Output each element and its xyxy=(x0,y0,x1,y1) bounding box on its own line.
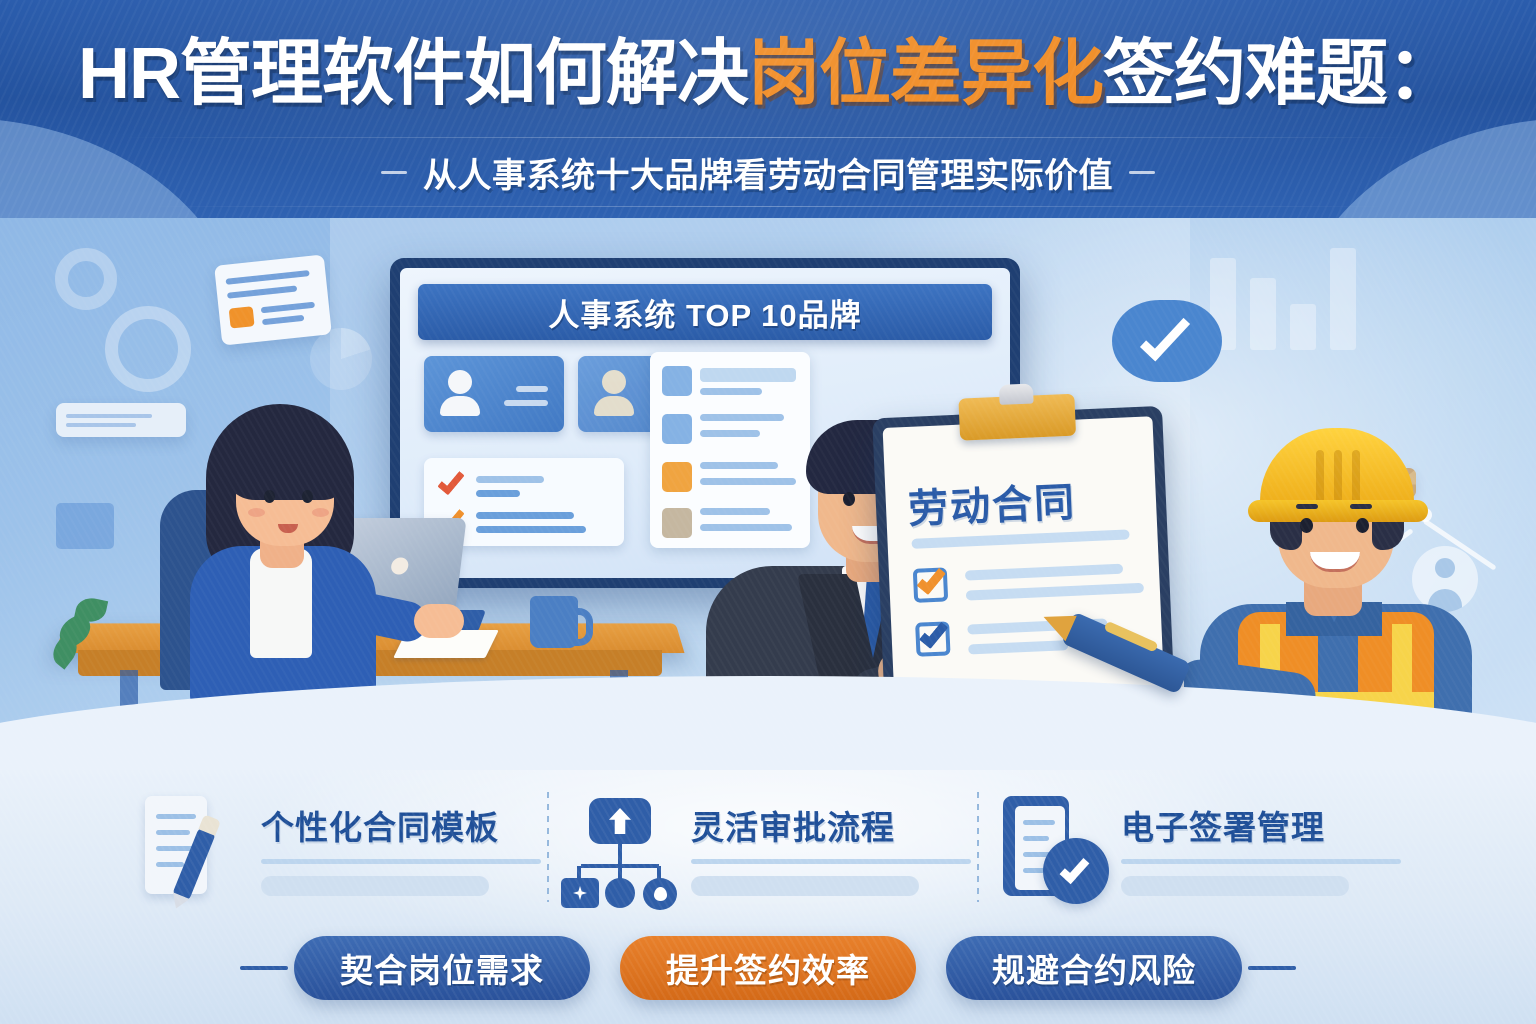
feature-label: 个性化合同模板 xyxy=(261,801,553,849)
bg-bar-chart-bar xyxy=(1210,258,1236,350)
panel-line xyxy=(700,508,770,515)
pen-clip xyxy=(1103,621,1158,653)
contract-paper: 劳动合同 xyxy=(883,416,1168,770)
records-panel xyxy=(650,352,810,548)
doc-line xyxy=(1023,820,1055,825)
monitor-banner-label: 人事系统 TOP 10品牌 xyxy=(548,290,861,335)
flow-leaf-node xyxy=(561,878,599,908)
monitor-banner: 人事系统 TOP 10品牌 xyxy=(418,284,992,340)
title-part-one: HR管理软件如何解决 xyxy=(78,34,748,114)
flow-connector xyxy=(657,866,661,880)
suit-jacket xyxy=(706,566,1036,770)
hair xyxy=(806,420,942,494)
feature-text: 灵活审批流程 xyxy=(691,801,983,896)
panel-swatch xyxy=(662,508,692,538)
header-divider-line-lower xyxy=(150,206,1386,207)
contract-clipboard: 劳动合同 xyxy=(872,406,1178,770)
header-divider-line xyxy=(120,137,1416,138)
bg-card-line xyxy=(226,270,310,285)
blush xyxy=(312,508,329,517)
bg-card-line xyxy=(227,285,297,298)
bg-trend-line xyxy=(1423,518,1497,570)
pill-connector-left xyxy=(240,966,288,970)
shirt xyxy=(250,548,312,658)
pill-label: 契合岗位需求 xyxy=(340,944,544,992)
lapel-right xyxy=(861,574,949,714)
list-line xyxy=(476,490,520,497)
bg-bar-chart-bar xyxy=(1250,278,1276,350)
check-badge-icon xyxy=(1043,838,1109,904)
avatar-head xyxy=(1435,558,1455,578)
plant-leaf xyxy=(54,612,96,651)
check-icon xyxy=(1140,310,1190,362)
neck xyxy=(260,528,304,568)
feature-placeholder-bar xyxy=(261,876,489,896)
panel-line xyxy=(700,462,778,469)
doc-line xyxy=(1023,852,1055,857)
arm xyxy=(313,583,431,645)
desk-leg xyxy=(610,670,628,750)
eye xyxy=(264,490,275,503)
panel-swatch xyxy=(662,414,692,444)
avatar-body xyxy=(440,396,480,416)
work-shirt xyxy=(1200,604,1472,770)
bottom-section: 个性化合同模板 灵活审批流程 xyxy=(0,770,1536,1024)
flow-connector xyxy=(618,844,622,866)
panel-swatch xyxy=(662,366,692,396)
panel-line xyxy=(700,430,760,437)
panel-line xyxy=(700,524,792,531)
construction-worker-character xyxy=(1186,414,1486,770)
contract-checkbox xyxy=(913,567,948,602)
bottom-glow xyxy=(218,770,1318,970)
bg-card-line xyxy=(262,315,304,325)
profile-card xyxy=(424,356,564,432)
doc-line xyxy=(156,862,184,867)
benefit-pill-row: 契合岗位需求 提升签约效率 规避合约风险 xyxy=(0,928,1536,1008)
panel-line xyxy=(700,368,796,382)
blazer xyxy=(190,546,376,706)
document-shape xyxy=(145,796,207,894)
document-pencil-icon xyxy=(139,794,243,902)
profile-line xyxy=(676,404,702,410)
eye xyxy=(843,492,855,506)
desk-edge xyxy=(78,650,662,676)
bg-approval-bubble-icon xyxy=(1112,300,1222,382)
hair-left xyxy=(1270,488,1302,550)
bg-user-avatar-icon xyxy=(1378,630,1450,702)
potted-plant xyxy=(50,578,120,668)
avatar-body xyxy=(1395,676,1432,702)
bg-card-line xyxy=(261,302,315,314)
feature-item-contract-template[interactable]: 个性化合同模板 xyxy=(123,788,553,908)
necktie xyxy=(860,582,886,674)
feature-rule xyxy=(1121,859,1401,864)
eye xyxy=(1300,518,1313,533)
doc-line xyxy=(156,846,196,851)
feature-placeholder-bar xyxy=(1121,876,1349,896)
contract-line xyxy=(965,564,1123,581)
profile-line xyxy=(516,386,548,392)
scene-bottom-curve xyxy=(0,676,1536,770)
dress-shirt xyxy=(842,566,904,662)
mouth xyxy=(1310,552,1360,572)
doc-line xyxy=(156,814,196,819)
hr-officer-character xyxy=(178,398,408,698)
collar xyxy=(1286,602,1382,636)
helmet-rib xyxy=(1316,450,1324,508)
desk-paper xyxy=(393,630,499,658)
feature-text: 个性化合同模板 xyxy=(261,801,553,896)
check-icon xyxy=(437,467,464,496)
hair-back xyxy=(206,404,354,582)
desktop-monitor: 人事系统 TOP 10品牌 xyxy=(390,258,1020,588)
eye xyxy=(302,490,313,503)
pill-label: 提升签约效率 xyxy=(666,944,870,992)
doc-line xyxy=(156,830,190,835)
bg-search-bar-icon xyxy=(56,403,186,437)
bg-user-avatar-icon xyxy=(1412,546,1478,612)
hair-front xyxy=(222,414,348,500)
plant-leaf xyxy=(74,595,108,625)
subtitle-dash-left xyxy=(381,171,407,174)
feature-label: 电子签署管理 xyxy=(1121,801,1413,849)
list-line xyxy=(476,476,544,483)
icon-shadow xyxy=(135,838,191,896)
helmet-rib xyxy=(1352,450,1360,508)
flow-connector xyxy=(581,864,659,868)
hair-right xyxy=(1372,488,1404,550)
clipboard-clamp xyxy=(958,394,1076,441)
pill-risk-avoidance[interactable]: 规避合约风险 xyxy=(946,936,1242,1000)
page-subtitle: 从人事系统十大品牌看劳动合同管理实际价值 xyxy=(423,148,1113,197)
hair-quiff xyxy=(907,425,956,472)
doc-line xyxy=(1023,836,1049,841)
doc-line xyxy=(1023,868,1045,873)
flow-connector xyxy=(577,866,581,880)
title-part-two: 签约难题： xyxy=(1103,34,1458,114)
flow-root-node xyxy=(589,798,651,844)
profile-line xyxy=(504,400,548,406)
feature-placeholder-bar xyxy=(691,876,919,896)
flow-connector xyxy=(618,866,622,880)
vest-opening xyxy=(1318,612,1358,770)
gear-icon xyxy=(105,306,191,392)
profile-avatar-icon xyxy=(592,370,636,416)
lapel-left xyxy=(797,574,885,714)
bg-search-line xyxy=(66,414,152,418)
list-line xyxy=(476,526,586,533)
pencil-shape xyxy=(172,827,216,901)
feature-text: 电子签署管理 xyxy=(1121,801,1413,896)
plant-leaf xyxy=(47,632,83,669)
bg-trend-line xyxy=(1353,528,1414,574)
bg-search-line xyxy=(66,423,136,427)
suit-button xyxy=(800,750,810,760)
neck xyxy=(1304,570,1362,616)
suit-button xyxy=(800,728,810,738)
document-shape xyxy=(1003,796,1069,896)
eyebrow xyxy=(1296,504,1318,509)
bg-chart-node xyxy=(1418,508,1432,522)
flow-leaf-glyph xyxy=(654,887,667,901)
hand xyxy=(875,643,944,697)
face xyxy=(236,434,334,546)
list-line xyxy=(476,512,574,519)
bg-bar-chart-bar xyxy=(1290,304,1316,350)
pill-job-fit[interactable]: 契合岗位需求 xyxy=(294,936,590,1000)
document-check-icon xyxy=(999,794,1103,902)
eye xyxy=(892,492,904,506)
blush xyxy=(248,508,265,517)
profile-avatar-icon xyxy=(438,370,482,416)
vest-stripe-horizontal xyxy=(1238,692,1434,709)
eyebrow xyxy=(838,478,860,483)
contract-line xyxy=(911,529,1129,548)
flow-leaf-glyph xyxy=(573,886,587,900)
check-icon xyxy=(919,618,948,649)
mouth xyxy=(852,526,896,544)
face xyxy=(818,440,930,562)
avatar-head xyxy=(602,370,626,394)
check-icon xyxy=(437,505,464,534)
page-title: HR管理软件如何解决岗位差异化签约难题： xyxy=(0,38,1536,110)
laptop-base xyxy=(288,610,486,632)
monitor-screen: 人事系统 TOP 10品牌 xyxy=(400,268,1010,578)
feature-item-approval-flow[interactable]: 灵活审批流程 xyxy=(553,788,983,908)
hand xyxy=(414,604,464,638)
contract-line xyxy=(968,640,1068,654)
avatar-head xyxy=(1403,643,1425,665)
subtitle-row: 从人事系统十大品牌看劳动合同管理实际价值 xyxy=(0,148,1536,197)
hard-hat-brim xyxy=(1248,500,1428,522)
desk-leg xyxy=(120,670,138,750)
feature-label: 灵活审批流程 xyxy=(691,801,983,849)
vest-stripe xyxy=(1260,624,1280,770)
contract-line xyxy=(966,583,1144,601)
feature-list: 个性化合同模板 灵活审批流程 xyxy=(0,784,1536,912)
check-icon xyxy=(1059,853,1089,884)
panel-line xyxy=(700,414,784,421)
header-banner: HR管理软件如何解决岗位差异化签约难题： 从人事系统十大品牌看劳动合同管理实际价… xyxy=(0,0,1536,218)
panel-swatch xyxy=(662,462,692,492)
flow-leaf-node xyxy=(643,878,677,910)
check-icon xyxy=(917,564,946,595)
manager-character xyxy=(700,406,1040,770)
desk-surface xyxy=(56,623,685,653)
contract-title: 劳动合同 xyxy=(907,470,1077,535)
gear-icon xyxy=(55,248,117,310)
flow-leaf-node xyxy=(605,878,635,908)
bg-bar-chart-bar xyxy=(1330,248,1356,350)
face xyxy=(1278,470,1394,588)
title-highlight: 岗位差异化 xyxy=(748,34,1103,114)
eye xyxy=(1356,518,1369,533)
laptop-lid xyxy=(325,518,466,626)
avatar-head xyxy=(448,370,472,394)
illustration-scene: 人事系统 TOP 10品牌 xyxy=(0,218,1536,770)
eyebrow xyxy=(886,478,908,483)
signing-pen xyxy=(1061,611,1192,694)
arm xyxy=(847,639,1004,720)
feature-rule xyxy=(691,859,971,864)
safety-vest xyxy=(1238,612,1434,770)
bg-card-icon xyxy=(214,254,332,345)
vest-stripe xyxy=(1392,624,1412,770)
avatar-body xyxy=(594,396,634,416)
checklist-card xyxy=(424,458,624,546)
signature xyxy=(933,696,1067,748)
panel-line xyxy=(700,388,762,395)
hard-hat xyxy=(1260,428,1414,512)
workflow-tree-icon xyxy=(569,794,673,902)
feature-item-e-signature[interactable]: 电子签署管理 xyxy=(983,788,1413,908)
pill-signing-efficiency[interactable]: 提升签约效率 xyxy=(620,936,916,1000)
avatar-body xyxy=(1428,589,1462,612)
suit-button xyxy=(800,706,810,716)
eyebrow xyxy=(1350,504,1372,509)
bg-folder-icon xyxy=(56,503,114,549)
subtitle-dash-right xyxy=(1129,171,1155,174)
contract-checkbox xyxy=(915,621,950,656)
document-inner xyxy=(1015,806,1065,890)
panel-line xyxy=(700,478,796,485)
laptop-logo xyxy=(390,557,409,574)
helmet-rib xyxy=(1334,450,1342,508)
office-chair xyxy=(160,490,346,690)
infographic-poster: HR管理软件如何解决岗位差异化签约难题： 从人事系统十大品牌看劳动合同管理实际价… xyxy=(0,0,1536,1024)
bg-card-chip xyxy=(229,306,255,328)
flow-root-glyph xyxy=(609,808,631,834)
pill-connector-right xyxy=(1248,966,1296,970)
bg-message-icon xyxy=(1378,468,1416,498)
neck xyxy=(846,538,900,582)
feature-rule xyxy=(261,859,541,864)
profile-card xyxy=(578,356,718,432)
coffee-mug xyxy=(530,596,578,648)
mouth xyxy=(278,524,298,533)
bg-pie-chart-icon xyxy=(310,328,372,390)
pill-label: 规避合约风险 xyxy=(992,944,1196,992)
scene-wall-panel xyxy=(330,218,1190,770)
arm xyxy=(1173,656,1318,723)
